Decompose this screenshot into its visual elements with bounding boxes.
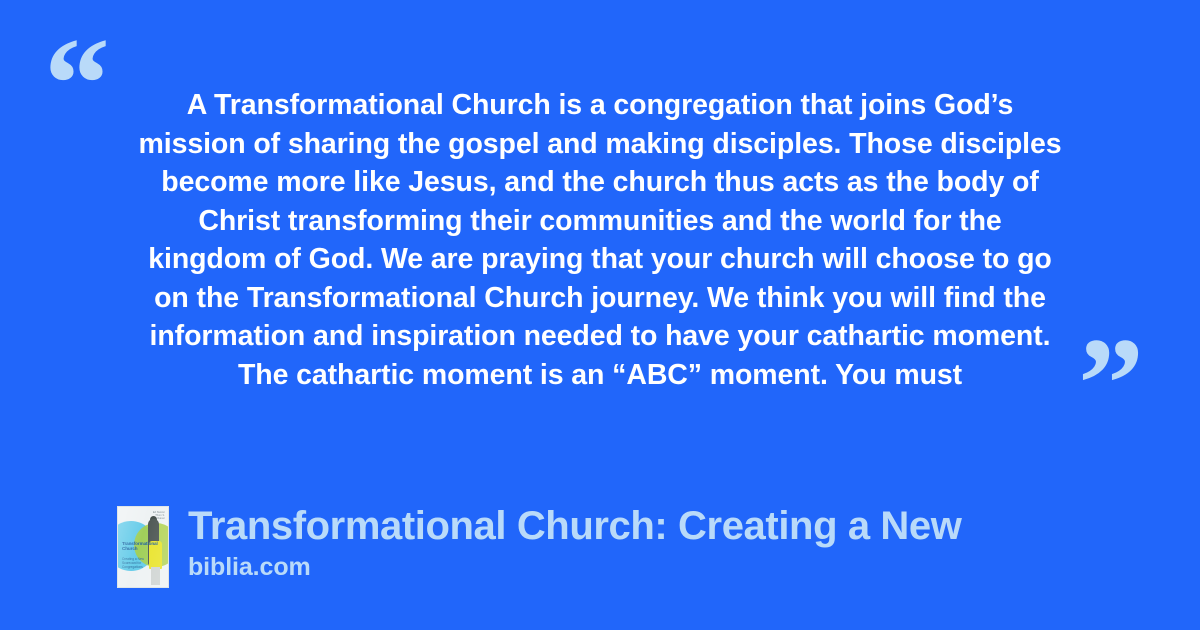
- site-name: biblia.com: [188, 552, 961, 582]
- quote-line: A Transformational Church is a congregat…: [112, 86, 1088, 125]
- quote-line: become more like Jesus, and the church t…: [112, 163, 1088, 202]
- quote-card: “ A Transformational Church is a congreg…: [0, 0, 1200, 630]
- quote-line: on the Transformational Church journey. …: [112, 279, 1088, 318]
- cover-subtitle-text: Creating a New Scorecard for Congregatio…: [122, 557, 148, 569]
- quote-line: The cathartic moment is an “ABC” moment.…: [112, 356, 1088, 395]
- cover-title-text: Transformational Church: [122, 541, 152, 552]
- cover-figure-legs: [151, 567, 160, 585]
- quote-line: kingdom of God. We are praying that your…: [112, 240, 1088, 279]
- quote-line: Christ transforming their communities an…: [112, 202, 1088, 241]
- source-text-block: Transformational Church: Creating a New …: [188, 506, 961, 582]
- book-title: Transformational Church: Creating a New: [188, 504, 961, 549]
- book-cover-thumbnail: Ed Stetzer Thom S. Rainer Transformation…: [117, 506, 169, 588]
- source-attribution: Ed Stetzer Thom S. Rainer Transformation…: [117, 506, 961, 588]
- closing-quote-icon: ”: [1078, 318, 1144, 450]
- quote-line: mission of sharing the gospel and making…: [112, 125, 1088, 164]
- cover-corner-note: Ed Stetzer Thom S. Rainer: [147, 511, 165, 521]
- quote-text: A Transformational Church is a congregat…: [112, 86, 1088, 394]
- opening-quote-icon: “: [44, 18, 110, 150]
- quote-line: information and inspiration needed to ha…: [112, 317, 1088, 356]
